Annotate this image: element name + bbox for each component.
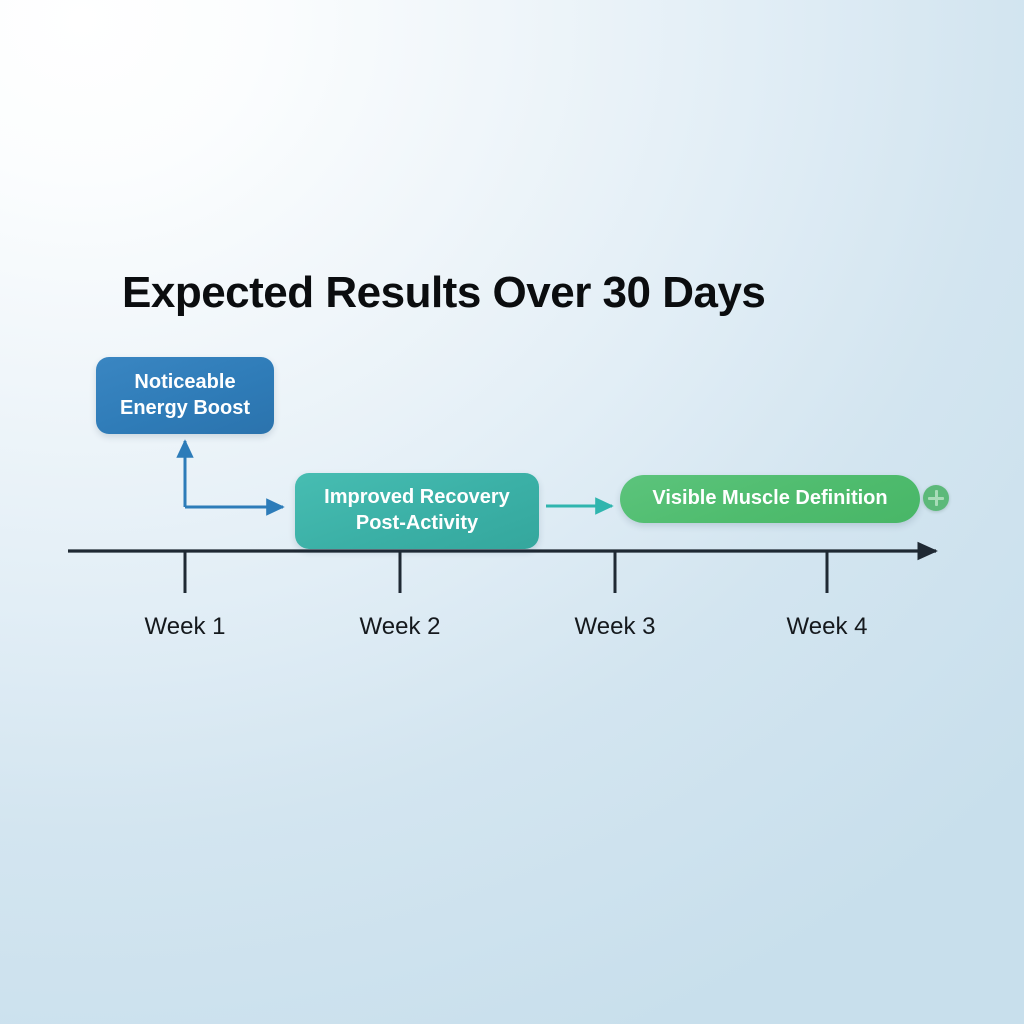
card-line-2: Energy Boost [120, 396, 250, 422]
card-line-2: Post-Activity [324, 511, 510, 537]
axis-label-week-3: Week 3 [535, 613, 695, 641]
card-line-1: Visible Muscle Definition [652, 486, 887, 512]
axis-label-week-2: Week 2 [320, 613, 480, 641]
card-line-1: Improved Recovery [324, 485, 510, 511]
plus-icon[interactable] [923, 485, 949, 511]
milestone-card-visible-muscle-definition[interactable]: Visible Muscle Definition [620, 475, 920, 523]
timeline-ticks [185, 552, 827, 593]
milestone-card-improved-recovery[interactable]: Improved Recovery Post-Activity [295, 473, 539, 549]
axis-label-week-4: Week 4 [747, 613, 907, 641]
infographic-canvas: Expected Results Over 30 Days [0, 0, 1024, 1024]
axis-label-week-1: Week 1 [105, 613, 265, 641]
milestone-card-improved-recovery-text: Improved Recovery Post-Activity [324, 485, 510, 536]
connector-energy [185, 441, 283, 507]
card-line-1: Noticeable [120, 370, 250, 396]
milestone-card-energy-boost[interactable]: Noticeable Energy Boost [96, 357, 274, 434]
milestone-card-energy-boost-text: Noticeable Energy Boost [120, 370, 250, 421]
